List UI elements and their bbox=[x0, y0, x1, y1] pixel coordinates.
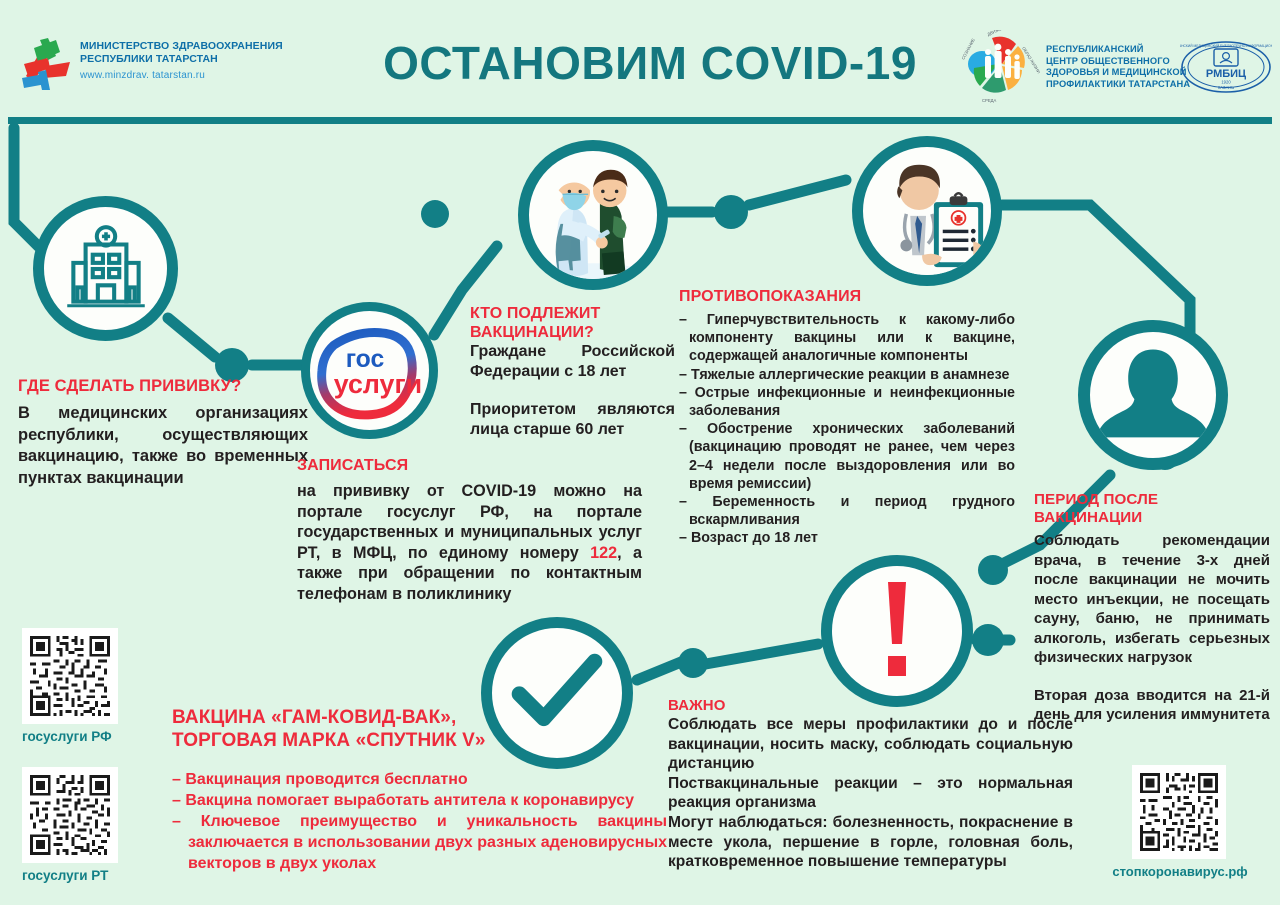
ph-line4: ПРОФИЛАКТИКИ ТАТАРСТАНА bbox=[1046, 79, 1190, 91]
block-who: КТО ПОДЛЕЖИТ ВАКЦИНАЦИИ? Граждане Россий… bbox=[470, 305, 675, 440]
minzdrav-text: МИНИСТЕРСТВО ЗДРАВООХРАНЕНИЯ РЕСПУБЛИКИ … bbox=[80, 40, 283, 81]
minzdrav-logo-icon bbox=[16, 32, 78, 94]
svg-text:КАЗАНЬ: КАЗАНЬ bbox=[1218, 85, 1235, 90]
where-body: В медицинских организациях республики, о… bbox=[18, 403, 308, 489]
qr-block-gosuslugi-rf[interactable]: госуслуги РФ bbox=[22, 628, 118, 744]
minzdrav-line2: РЕСПУБЛИКИ ТАТАРСТАН bbox=[80, 53, 283, 66]
qr-gosuslugi-rt-icon[interactable] bbox=[22, 767, 118, 863]
gosuslugi-bottom-label: услуги bbox=[334, 368, 422, 398]
list-item: Возраст до 18 лет bbox=[679, 529, 1015, 547]
gosuslugi-logo-icon: гос услуги bbox=[310, 308, 429, 434]
important-p2: Поствакцинальные реакции – это нормальна… bbox=[668, 774, 1073, 813]
qr-caption: госуслуги РТ bbox=[22, 868, 118, 883]
ph-line1: РЕСПУБЛИКАНСКИЙ bbox=[1046, 44, 1190, 56]
important-p3: Могут наблюдаться: болезненность, покрас… bbox=[668, 813, 1073, 872]
node-exclamation bbox=[821, 555, 973, 707]
list-item: Гиперчувствительность к какому-либо комп… bbox=[679, 311, 1015, 366]
list-item: Острые инфекционные и неинфекционные заб… bbox=[679, 384, 1015, 420]
svg-text:СРЕДА: СРЕДА bbox=[982, 98, 996, 103]
doctor-with-clipboard-illustration bbox=[863, 142, 991, 280]
doctor-vaccinating-patient-illustration bbox=[529, 148, 657, 282]
signup-phone: 122 bbox=[590, 544, 617, 562]
node-gosuslugi[interactable]: гос услуги bbox=[301, 302, 438, 439]
poster-root: МИНИСТЕРСТВО ЗДРАВООХРАНЕНИЯ РЕСПУБЛИКИ … bbox=[0, 0, 1280, 905]
vaccine-list: Вакцинация проводится бесплатно Вакцина … bbox=[172, 769, 667, 874]
hospital-icon bbox=[55, 218, 157, 320]
vaccine-heading-line1: ВАКЦИНА «ГАМ-КОВИД-ВАК», bbox=[172, 707, 667, 730]
block-contraindications: ПРОТИВОПОКАЗАНИЯ Гиперчувствительность к… bbox=[679, 287, 1015, 548]
after-heading: ПЕРИОД ПОСЛЕ ВАКЦИНАЦИИ bbox=[1034, 491, 1270, 527]
exclamation-mark-icon bbox=[866, 576, 928, 686]
node-person bbox=[1078, 320, 1228, 470]
list-item: Обострение хронических заболеваний (вакц… bbox=[679, 420, 1015, 493]
list-item: Беременность и период грудного вскармлив… bbox=[679, 493, 1015, 529]
vaccine-heading-line2: ТОРГОВАЯ МАРКА «СПУТНИК V» bbox=[172, 730, 667, 753]
qr-gosuslugi-rf-icon[interactable] bbox=[22, 628, 118, 724]
who-body: Граждане Российской Федерации с 18 лет bbox=[470, 342, 675, 382]
list-item: Вакцина помогает выработать антитела к к… bbox=[172, 790, 667, 811]
public-health-center-logo-icon: СОЗНАНИЕ ДВИЖЕНИЕ ОБРАЗ ЖИЗНИ СРЕДА bbox=[962, 30, 1040, 104]
who-heading-line1: КТО ПОДЛЕЖИТ bbox=[470, 305, 675, 324]
ph-line3: ЗДОРОВЬЯ И МЕДИЦИНСКОЙ bbox=[1046, 67, 1190, 79]
header-divider bbox=[8, 117, 1272, 124]
contraindications-heading: ПРОТИВОПОКАЗАНИЯ bbox=[679, 287, 1015, 306]
ph-line2: ЦЕНТР ОБЩЕСТВЕННОГО bbox=[1046, 56, 1190, 68]
block-important: ВАЖНО Соблюдать все меры профилактики до… bbox=[668, 697, 1073, 872]
who-body2: Приоритетом являются лица старше 60 лет bbox=[470, 400, 675, 440]
node-vaccination bbox=[518, 140, 668, 290]
node-hospital bbox=[33, 196, 178, 341]
public-health-center-text: РЕСПУБЛИКАНСКИЙ ЦЕНТР ОБЩЕСТВЕННОГО ЗДОР… bbox=[1046, 44, 1190, 90]
contraindications-list: Гиперчувствительность к какому-либо комп… bbox=[679, 311, 1015, 548]
qr-caption: стопкоронавирус.рф bbox=[1100, 864, 1260, 879]
block-after-vaccination: ПЕРИОД ПОСЛЕ ВАКЦИНАЦИИ Соблюдать рекоме… bbox=[1034, 491, 1270, 725]
block-vaccine: ВАКЦИНА «ГАМ-КОВИД-ВАК», ТОРГОВАЯ МАРКА … bbox=[172, 707, 667, 874]
block-where: ГДЕ СДЕЛАТЬ ПРИВИВКУ? В медицинских орга… bbox=[18, 376, 308, 489]
list-item: Вакцинация проводится бесплатно bbox=[172, 769, 667, 790]
svg-text:1920: 1920 bbox=[1221, 80, 1231, 85]
rmbic-logo-icon: РМБИЦ 1920 КАЗАНЬ РЕСПУБЛИКАНСКИЙ МЕДИЦИ… bbox=[1180, 40, 1272, 94]
important-heading: ВАЖНО bbox=[668, 697, 1073, 715]
qr-stopkoronavirus-icon[interactable] bbox=[1132, 765, 1226, 859]
person-silhouette-icon bbox=[1091, 333, 1215, 457]
minzdrav-url: www.minzdrav. tatarstan.ru bbox=[80, 70, 283, 81]
qr-block-stopkoronavirus[interactable]: стопкоронавирус.рф bbox=[1132, 765, 1260, 879]
svg-text:РЕСПУБЛИКАНСКИЙ МЕДИЦИНСКИЙ БИ: РЕСПУБЛИКАНСКИЙ МЕДИЦИНСКИЙ БИБЛИОТЕЧНО-… bbox=[1180, 44, 1272, 48]
qr-caption: госуслуги РФ bbox=[22, 729, 118, 744]
node-doctor bbox=[852, 136, 1002, 286]
signup-heading: ЗАПИСАТЬСЯ bbox=[297, 456, 642, 475]
after-body: Соблюдать рекомендации врача, в течение … bbox=[1034, 531, 1270, 668]
list-item: Тяжелые аллергические реакции в анамнезе bbox=[679, 366, 1015, 384]
page-title: ОСТАНОВИМ COVID-19 bbox=[330, 36, 970, 90]
minzdrav-line1: МИНИСТЕРСТВО ЗДРАВООХРАНЕНИЯ bbox=[80, 40, 283, 53]
who-heading-line2: ВАКЦИНАЦИИ? bbox=[470, 324, 675, 343]
block-signup: ЗАПИСАТЬСЯ на прививку от COVID-19 можно… bbox=[297, 456, 642, 604]
where-heading: ГДЕ СДЕЛАТЬ ПРИВИВКУ? bbox=[18, 376, 308, 396]
svg-text:ДВИЖЕНИЕ: ДВИЖЕНИЕ bbox=[986, 30, 1010, 37]
list-item: Ключевое преимущество и уникальность вак… bbox=[172, 811, 667, 874]
signup-body: на прививку от COVID-19 можно на портале… bbox=[297, 481, 642, 604]
important-p1: Соблюдать все меры профилактики до и пос… bbox=[668, 715, 1073, 774]
qr-block-gosuslugi-rt[interactable]: госуслуги РТ bbox=[22, 767, 118, 883]
svg-text:РМБИЦ: РМБИЦ bbox=[1206, 68, 1246, 80]
